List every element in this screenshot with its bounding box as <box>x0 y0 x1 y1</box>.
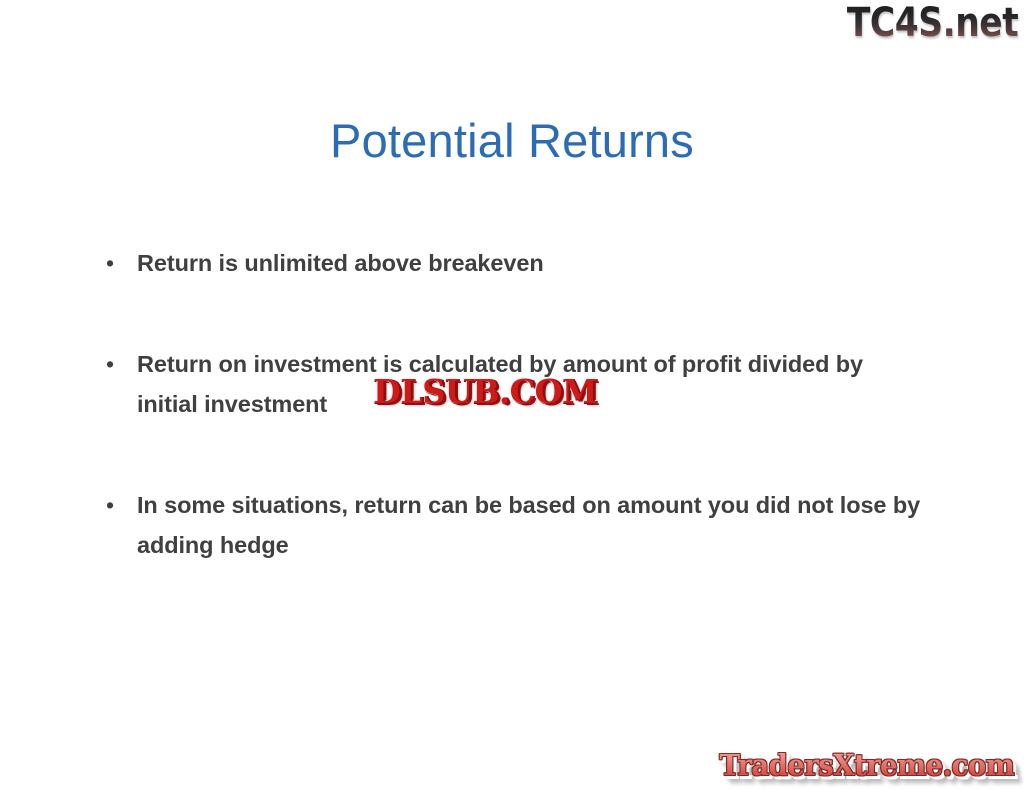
tradersxtreme-logo: TradersXtreme.com <box>719 748 1014 782</box>
page-title: Potential Returns <box>0 113 1024 169</box>
slide-canvas: TC4S.net Potential Returns • Return is u… <box>0 0 1024 791</box>
bullet-text: Return on investment is calculated by am… <box>137 344 927 424</box>
bullet-dot-icon: • <box>100 485 137 525</box>
bullet-dot-icon: • <box>100 243 137 283</box>
bullet-text: In some situations, return can be based … <box>137 485 927 565</box>
list-item: • Return on investment is calculated by … <box>100 344 960 424</box>
bullet-list: • Return is unlimited above breakeven • … <box>100 243 960 565</box>
tc4s-logo: TC4S.net <box>847 1 1018 45</box>
bullet-dot-icon: • <box>100 344 137 384</box>
bullet-text: Return is unlimited above breakeven <box>137 243 927 283</box>
list-item: • Return is unlimited above breakeven <box>100 243 960 283</box>
list-item: • In some situations, return can be base… <box>100 485 960 565</box>
